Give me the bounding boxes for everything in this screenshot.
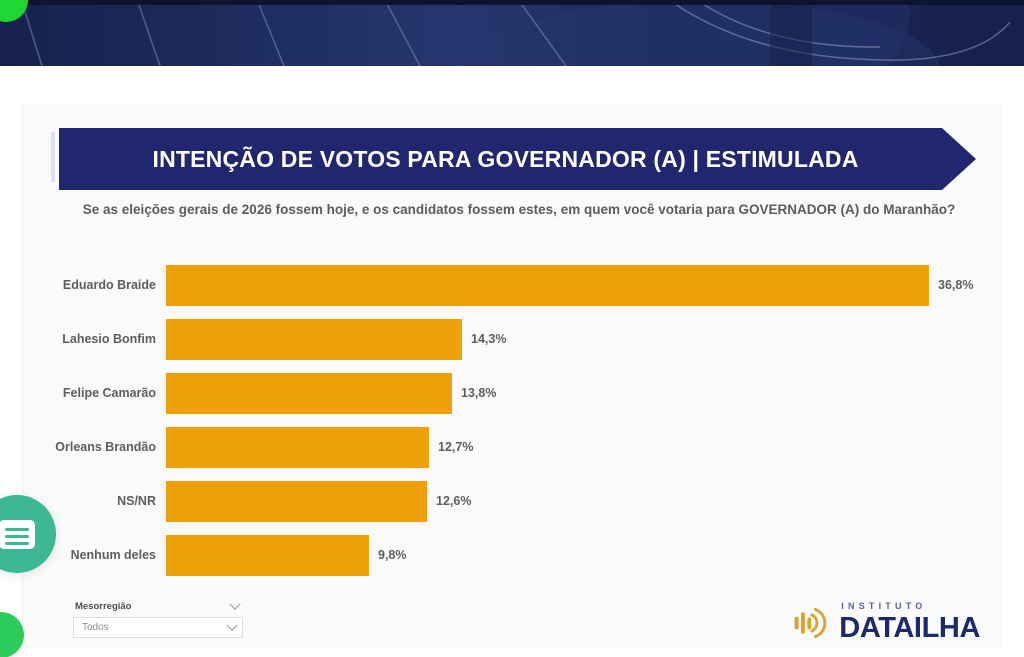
chart-bar-row[interactable]: Nenhum deles 9,8% bbox=[23, 529, 1003, 581]
bar-value-label: 14,3% bbox=[471, 332, 506, 346]
banner-pattern bbox=[0, 0, 1024, 66]
page-title: INTENÇÃO DE VOTOS PARA GOVERNADOR (A) | … bbox=[152, 146, 882, 173]
green-dot-bottom-left bbox=[0, 612, 24, 657]
bar-fill bbox=[166, 373, 452, 414]
chart-bar-row[interactable]: Orleans Brandão 12,7% bbox=[23, 421, 1003, 473]
bar-track: 12,6% bbox=[166, 475, 1003, 527]
bar-value-label: 9,8% bbox=[378, 548, 407, 562]
bar-fill bbox=[166, 427, 429, 468]
chevron-down-icon bbox=[226, 619, 237, 630]
bar-track: 12,7% bbox=[166, 421, 1003, 473]
bar-value-label: 12,6% bbox=[436, 494, 471, 508]
bar-fill bbox=[166, 319, 462, 360]
filter-header[interactable]: Mesorregião bbox=[73, 601, 243, 617]
bar-chart: Eduardo Braide 36,8% Lahesio Bonfim 14,3… bbox=[23, 259, 1003, 589]
ribbon-left-tick bbox=[51, 132, 55, 182]
bar-track: 13,8% bbox=[166, 367, 1003, 419]
bar-value-label: 12,7% bbox=[438, 440, 473, 454]
bar-category-label: Eduardo Braide bbox=[23, 278, 166, 292]
bar-fill bbox=[166, 481, 427, 522]
chart-bar-row[interactable]: Felipe Camarão 13,8% bbox=[23, 367, 1003, 419]
title-ribbon-wrapper: INTENÇÃO DE VOTOS PARA GOVERNADOR (A) | … bbox=[51, 128, 976, 190]
datailha-logo: INSTITUTO DATAILHA bbox=[790, 602, 980, 643]
bar-category-label: Lahesio Bonfim bbox=[23, 332, 166, 346]
bar-value-label: 13,8% bbox=[461, 386, 496, 400]
mesorregiao-selected-value: Todos bbox=[82, 622, 109, 633]
mesorregiao-select[interactable]: Todos bbox=[73, 617, 243, 638]
bar-value-label: 36,8% bbox=[938, 278, 973, 292]
banner-top-strip bbox=[0, 0, 1024, 5]
datailha-mark-icon bbox=[790, 604, 830, 642]
bar-category-label: Orleans Brandão bbox=[23, 440, 166, 454]
chart-bar-row[interactable]: NS/NR 12,6% bbox=[23, 475, 1003, 527]
mesorregiao-filter: Mesorregião Todos bbox=[73, 601, 243, 638]
poll-question: Se as eleições gerais de 2026 fossem hoj… bbox=[69, 200, 969, 221]
bar-fill bbox=[166, 535, 369, 576]
brand-name: DATAILHA bbox=[839, 614, 980, 643]
chart-bar-row[interactable]: Eduardo Braide 36,8% bbox=[23, 259, 1003, 311]
poll-report-card: INTENÇÃO DE VOTOS PARA GOVERNADOR (A) | … bbox=[22, 104, 1002, 647]
brand-kicker: INSTITUTO bbox=[839, 602, 980, 611]
report-title-ribbon: INTENÇÃO DE VOTOS PARA GOVERNADOR (A) | … bbox=[59, 128, 976, 190]
filter-label: Mesorregião bbox=[75, 601, 132, 612]
screenshot-root: INTENÇÃO DE VOTOS PARA GOVERNADOR (A) | … bbox=[0, 0, 1024, 657]
bar-track: 9,8% bbox=[166, 529, 1003, 581]
bar-fill bbox=[166, 265, 929, 306]
bar-track: 36,8% bbox=[166, 259, 1003, 311]
chat-bubble-icon bbox=[0, 520, 35, 549]
brand-wordmark: INSTITUTO DATAILHA bbox=[839, 602, 980, 643]
chart-bar-row[interactable]: Lahesio Bonfim 14,3% bbox=[23, 313, 1003, 365]
bar-category-label: Felipe Camarão bbox=[23, 386, 166, 400]
site-navy-banner bbox=[0, 0, 1024, 66]
bar-track: 14,3% bbox=[166, 313, 1003, 365]
chevron-down-icon bbox=[229, 598, 240, 609]
